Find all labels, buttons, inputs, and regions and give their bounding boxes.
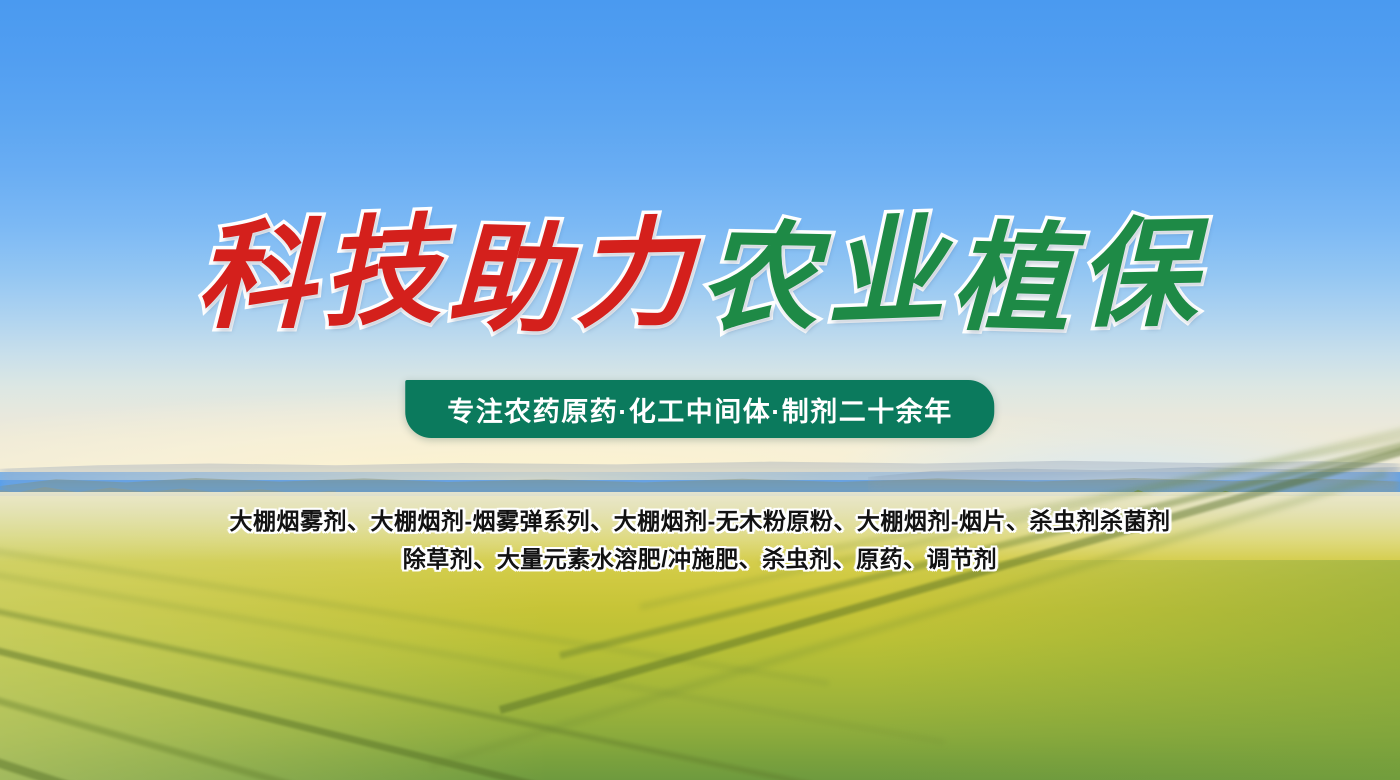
product-line-2: 除草剂、大量元素水溶肥/冲施肥、杀虫剂、原药、调节剂 (0, 540, 1400, 578)
subtitle-banner: 专注农药原药·化工中间体·制剂二十余年 (405, 380, 994, 438)
title-char-3: 助 (446, 207, 576, 349)
page-title: 科技助力农业植保 (0, 206, 1400, 345)
title-char-4: 力 (573, 203, 701, 344)
title-char-1: 科 (196, 206, 322, 345)
product-category-list: 大棚烟雾剂、大棚烟剂-烟雾弹系列、大棚烟剂-无木粉原粉、大棚烟剂-烟片、杀虫剂杀… (0, 502, 1400, 578)
subtitle-text: 专注农药原药·化工中间体·制剂二十余年 (447, 390, 952, 429)
title-char-8: 保 (1077, 203, 1205, 344)
title-char-7: 植 (950, 207, 1080, 349)
title-char-5: 农 (699, 207, 827, 348)
hero-banner: 科技助力农业植保 专注农药原药·化工中间体·制剂二十余年 大棚烟雾剂、大棚烟剂-… (0, 0, 1400, 780)
product-line-1: 大棚烟雾剂、大棚烟剂-烟雾弹系列、大棚烟剂-无木粉原粉、大棚烟剂-烟片、杀虫剂杀… (0, 502, 1400, 540)
title-char-6: 业 (823, 200, 954, 344)
title-char-2: 技 (319, 200, 450, 344)
